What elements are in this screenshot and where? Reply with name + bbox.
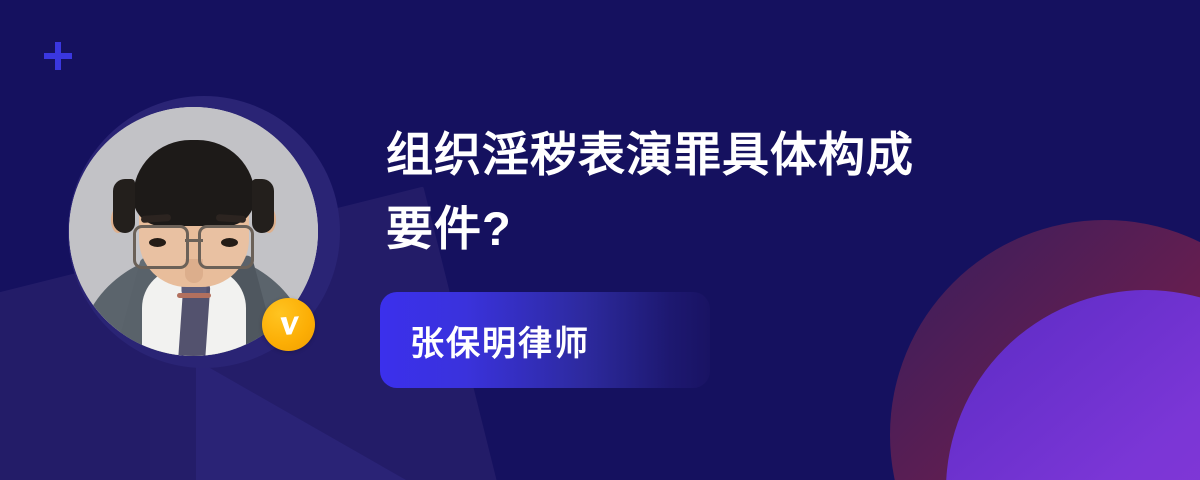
page-title: 组织淫秽表演罪具体构成 要件? — [386, 118, 1086, 266]
lawyer-name-badge[interactable]: 张保明律师 — [380, 292, 710, 388]
lawyer-name-label: 张保明律师 — [380, 316, 590, 365]
verified-badge-icon — [262, 298, 315, 351]
plus-icon — [42, 40, 74, 72]
promo-card: 组织淫秽表演罪具体构成 要件? 张保明律师 — [0, 0, 1200, 480]
decorative-triangle — [196, 360, 406, 480]
headline-block: 组织淫秽表演罪具体构成 要件? — [386, 118, 1086, 266]
